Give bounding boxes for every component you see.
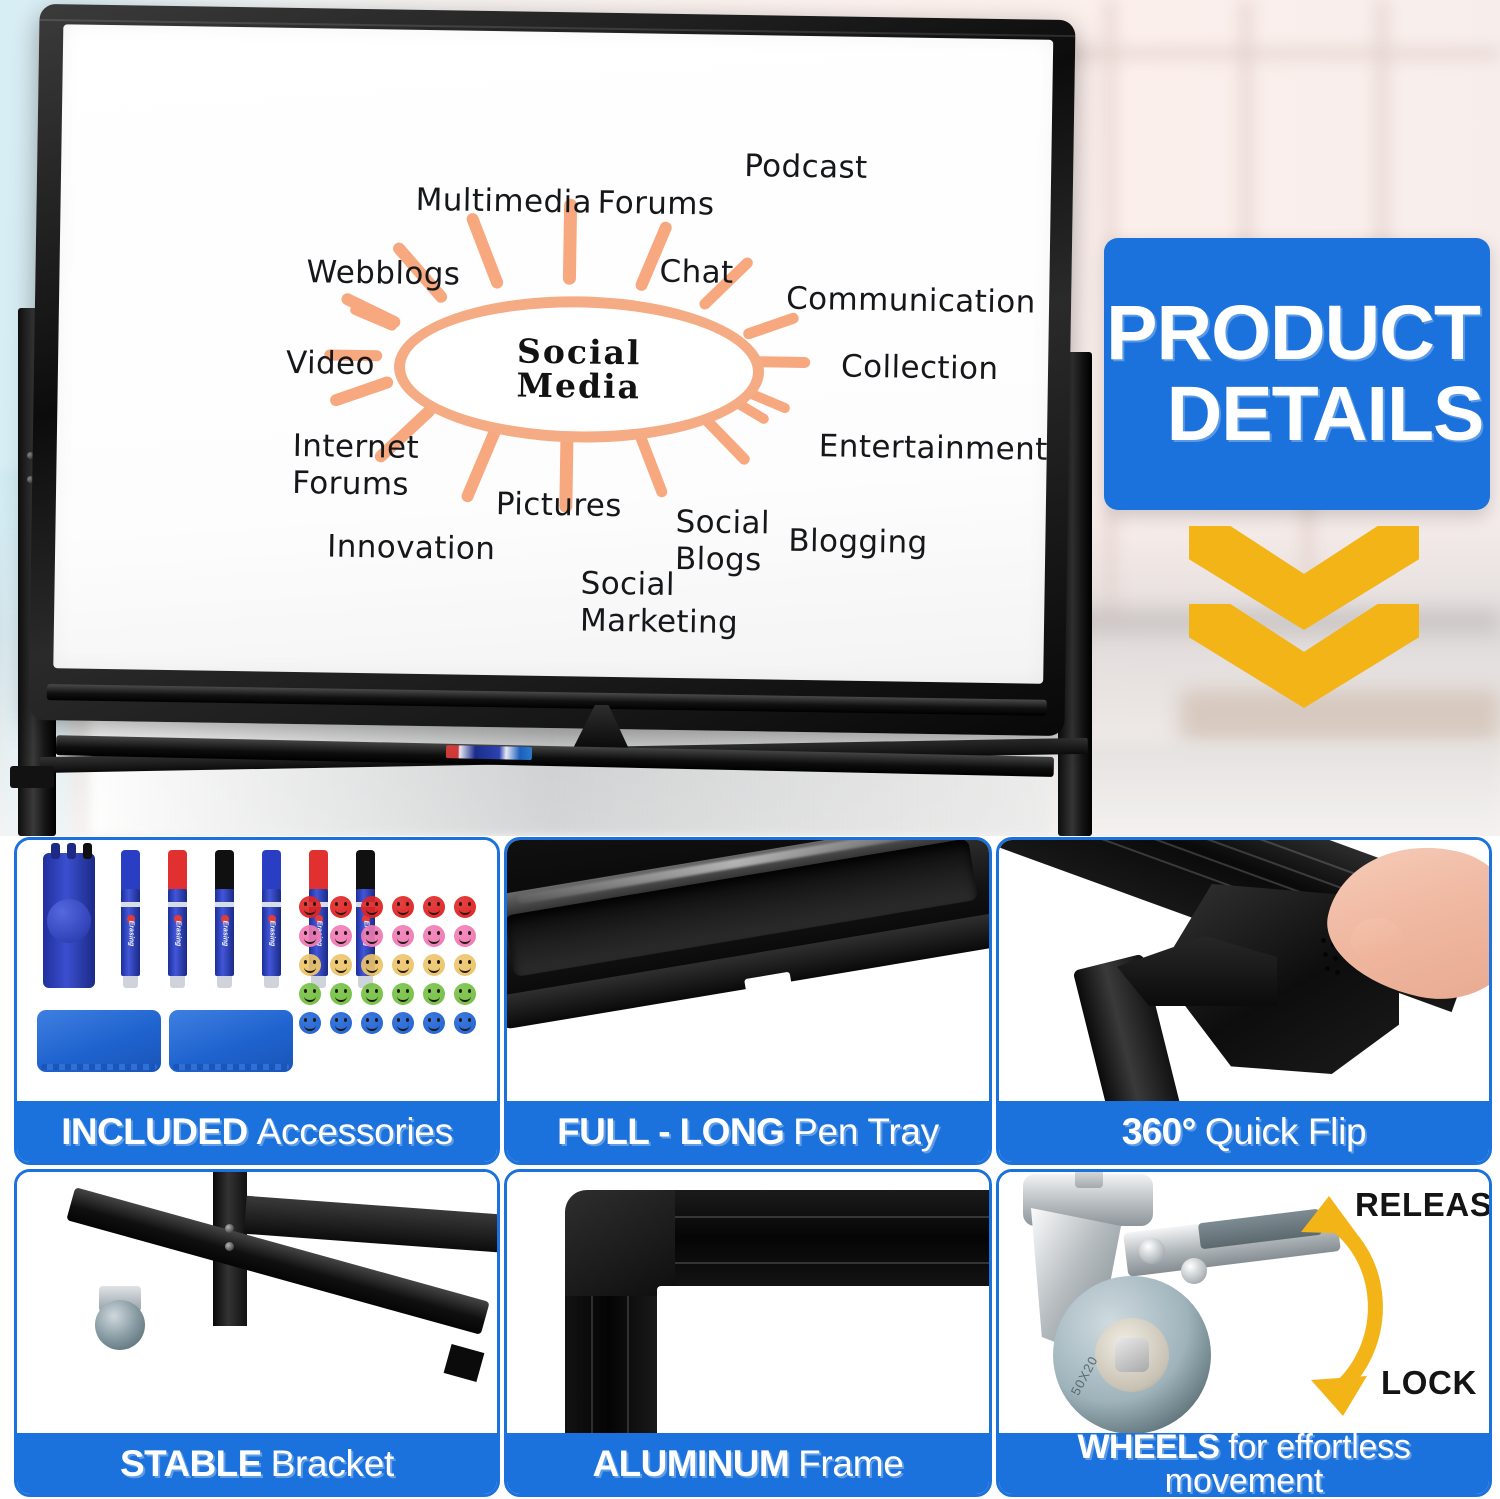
smiley-magnet — [361, 925, 383, 947]
caption-bold: FULL - LONG — [557, 1111, 784, 1153]
caster-pivot-pin — [1181, 1258, 1207, 1284]
window-mullion — [1102, 0, 1118, 250]
feature-caption: FULL - LONG Pen Tray — [506, 1101, 990, 1163]
feature-caption: INCLUDED Accessories — [16, 1101, 498, 1163]
mindmap-label: Forums — [597, 185, 714, 223]
smiley-magnet — [423, 983, 445, 1005]
smiley-magnet — [423, 954, 445, 976]
caption-bold: INCLUDED — [61, 1111, 247, 1153]
holder-knob — [47, 899, 91, 943]
window-mullion — [1238, 0, 1254, 260]
smiley-magnet — [330, 983, 352, 1005]
mindmap-label: InternetForums — [292, 428, 419, 503]
aluminum-frame-photo — [507, 1172, 989, 1434]
frame-board-face — [657, 1286, 989, 1434]
whiteboard-marker: Erasing — [168, 850, 187, 988]
smiley-magnet — [392, 925, 414, 947]
smiley-magnet — [392, 983, 414, 1005]
pen-tray-photo — [507, 840, 989, 1102]
whiteboard: Social Media PodcastMultimediaForumsWebb… — [28, 4, 1075, 736]
smiley-magnet — [454, 983, 476, 1005]
accessories-photo: ErasingErasingErasingErasingErasingErasi… — [17, 840, 497, 1102]
smiley-magnet — [392, 954, 414, 976]
bracket-photo — [17, 1172, 497, 1434]
caption-normal: Frame — [798, 1443, 903, 1485]
floor-blur — [1060, 744, 1500, 836]
smiley-magnet — [330, 925, 352, 947]
smiley-magnet — [330, 896, 352, 918]
mindmap-label: Entertainment — [819, 428, 1048, 468]
feature-caption: ALUMINUM Frame — [506, 1433, 990, 1495]
smiley-magnet — [392, 1012, 414, 1034]
caption-normal: Accessories — [257, 1111, 453, 1153]
smiley-magnet — [299, 954, 321, 976]
caption-normal: Bracket — [271, 1443, 394, 1485]
smiley-magnet — [299, 925, 321, 947]
whiteboard-eraser — [37, 1010, 161, 1072]
product-detail-page: Social Media PodcastMultimediaForumsWebb… — [0, 0, 1500, 1499]
release-label: RELEASE — [1355, 1186, 1489, 1224]
mindmap-label: Podcast — [744, 148, 868, 187]
mindmap-label: Webblogs — [306, 254, 460, 293]
bracket-caster-wheel — [95, 1300, 145, 1350]
caster-bolt — [1075, 1172, 1103, 1188]
smiley-magnet — [330, 954, 352, 976]
caption-normal: Pen Tray — [793, 1111, 939, 1153]
mindmap-label: Innovation — [327, 528, 496, 567]
mindmap-center-node: Social Media — [393, 294, 765, 446]
smiley-magnet — [454, 925, 476, 947]
window-mullion — [1374, 0, 1390, 270]
mindmap-label: Collection — [841, 349, 999, 388]
feature-panel-pen-tray[interactable]: FULL - LONG Pen Tray — [504, 837, 992, 1165]
mindmap-center-line2: Media — [516, 368, 641, 404]
badge-line-2: DETAILS — [1167, 375, 1484, 454]
mindmap-label: Multimedia — [415, 182, 592, 221]
accessories-art: ErasingErasingErasingErasingErasingErasi… — [17, 840, 497, 1102]
bracket-art — [17, 1172, 497, 1434]
caption-normal: Quick Flip — [1205, 1111, 1366, 1153]
caster-pivot-pin — [1139, 1238, 1165, 1264]
quick-flip-art — [999, 840, 1489, 1102]
whiteboard-eraser — [169, 1010, 293, 1072]
smiley-magnet — [423, 896, 445, 918]
feature-caption: 360° Quick Flip — [998, 1101, 1490, 1163]
smiley-magnet — [299, 1012, 321, 1034]
mindmap-label: Chat — [659, 254, 734, 292]
mindmap-label: SocialMarketing — [580, 565, 739, 641]
whiteboard-marker: Erasing — [215, 850, 234, 988]
mindmap-label: Video — [286, 345, 375, 383]
holder-marker — [67, 843, 76, 859]
bracket-base-end-cap — [444, 1344, 485, 1382]
holder-marker — [83, 843, 92, 859]
feature-caption: STABLE Bracket — [16, 1433, 498, 1495]
mindmap-diagram: Social Media PodcastMultimediaForumsWebb… — [53, 24, 1053, 683]
feature-panel-quick-flip[interactable]: 360° Quick Flip — [996, 837, 1492, 1165]
pen-tray-art — [507, 840, 989, 1102]
smiley-magnet — [299, 896, 321, 918]
smiley-magnet — [361, 983, 383, 1005]
whiteboard-marker: Erasing — [262, 850, 281, 988]
caption-bold: 360° — [1122, 1111, 1196, 1153]
feature-caption: WHEELS for effortless movement — [998, 1433, 1490, 1495]
bracket-screw-icon — [225, 1242, 234, 1251]
caption-bold: ALUMINUM — [592, 1443, 789, 1485]
caster-axle-nut — [1115, 1338, 1149, 1372]
smiley-magnet — [330, 1012, 352, 1034]
smiley-magnet — [361, 954, 383, 976]
whiteboard-marker: Erasing — [121, 850, 140, 988]
frame-top-rail — [675, 1190, 989, 1286]
whiteboard-surface: Social Media PodcastMultimediaForumsWebb… — [53, 24, 1053, 683]
chevron-down-group — [1189, 526, 1419, 716]
lock-label: LOCK — [1381, 1364, 1477, 1402]
smiley-magnet — [454, 896, 476, 918]
bracket-screw-icon — [225, 1224, 234, 1233]
feature-panel-included-accessories[interactable]: ErasingErasingErasingErasingErasingErasi… — [14, 837, 500, 1165]
frame-side-rail — [565, 1296, 657, 1434]
window-mullion — [1102, 510, 1118, 620]
caster-art: 50X20 RELEASE LOCK — [999, 1172, 1489, 1434]
mindmap-label: Communication — [786, 281, 1036, 321]
caption-normal: for effortless — [1228, 1430, 1410, 1464]
mindmap-ray — [465, 212, 505, 291]
holder-marker — [51, 843, 60, 859]
caption-bold: WHEELS — [1077, 1430, 1219, 1464]
caption-bold: STABLE — [120, 1443, 262, 1485]
wheel-photo: 50X20 RELEASE LOCK — [999, 1172, 1489, 1434]
hero-section: Social Media PodcastMultimediaForumsWebb… — [0, 0, 1500, 836]
mindmap-label: Pictures — [496, 486, 623, 525]
aluminum-frame-art — [507, 1172, 989, 1434]
smiley-magnet — [361, 896, 383, 918]
feature-panel-wheels[interactable]: 50X20 RELEASE LOCK WHEELS for effortless… — [996, 1169, 1492, 1497]
badge-line-1: PRODUCT — [1106, 294, 1480, 373]
quick-flip-photo — [999, 840, 1489, 1102]
marker-holder — [43, 853, 95, 988]
smiley-magnet — [392, 896, 414, 918]
smiley-magnet — [423, 925, 445, 947]
smiley-magnet — [299, 983, 321, 1005]
brand-logo-sticker — [446, 745, 532, 760]
feature-grid: ErasingErasingErasingErasingErasingErasi… — [0, 836, 1500, 1499]
smiley-magnet — [423, 1012, 445, 1034]
feature-panel-stable-bracket[interactable]: STABLE Bracket — [14, 1169, 500, 1497]
feature-panel-aluminum-frame[interactable]: ALUMINUM Frame — [504, 1169, 992, 1497]
fingertip — [1351, 918, 1403, 962]
caption-normal-line2: movement — [1165, 1464, 1324, 1497]
stand-foot — [10, 766, 54, 788]
smiley-magnet — [361, 1012, 383, 1034]
smiley-magnet — [454, 1012, 476, 1034]
smiley-magnet — [454, 954, 476, 976]
product-details-badge: PRODUCT DETAILS — [1104, 238, 1490, 510]
mindmap-label: Blogging — [788, 523, 928, 562]
